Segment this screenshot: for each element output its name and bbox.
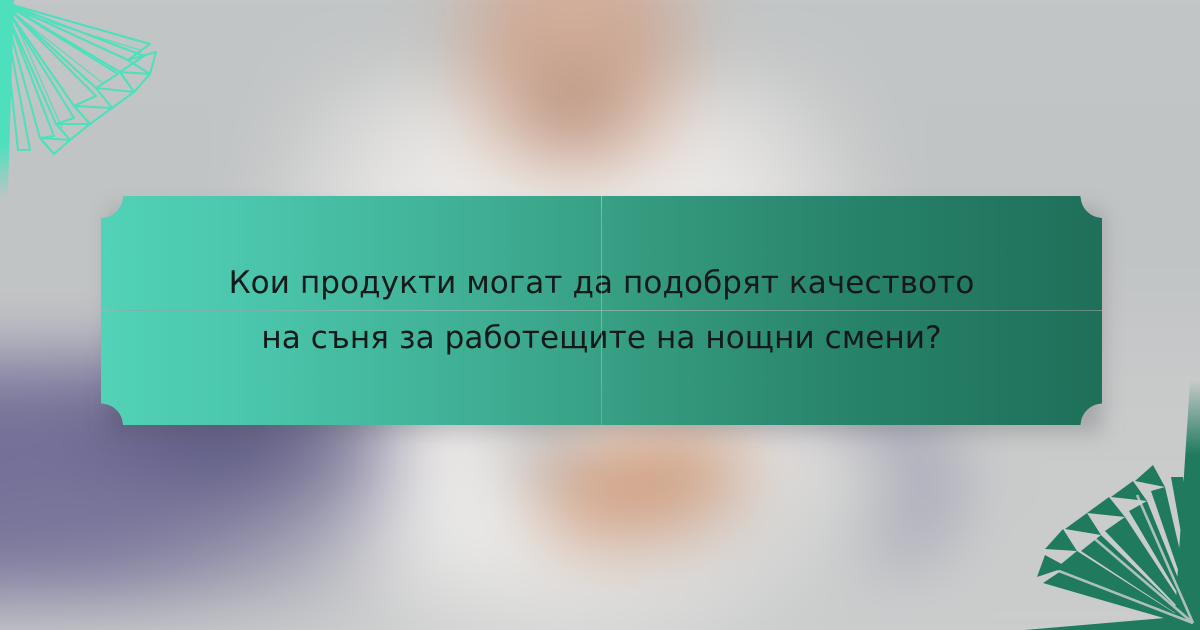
poster-canvas: Кои продукти могат да подобрят качествот… bbox=[0, 0, 1200, 630]
page-title: Кои продукти могат да подобрят качествот… bbox=[172, 256, 1032, 365]
headline-banner: Кои продукти могат да подобрят качествот… bbox=[101, 196, 1102, 425]
background-eye-right bbox=[595, 8, 675, 56]
background-eye-left bbox=[489, 8, 563, 56]
background-mouth bbox=[526, 55, 621, 140]
